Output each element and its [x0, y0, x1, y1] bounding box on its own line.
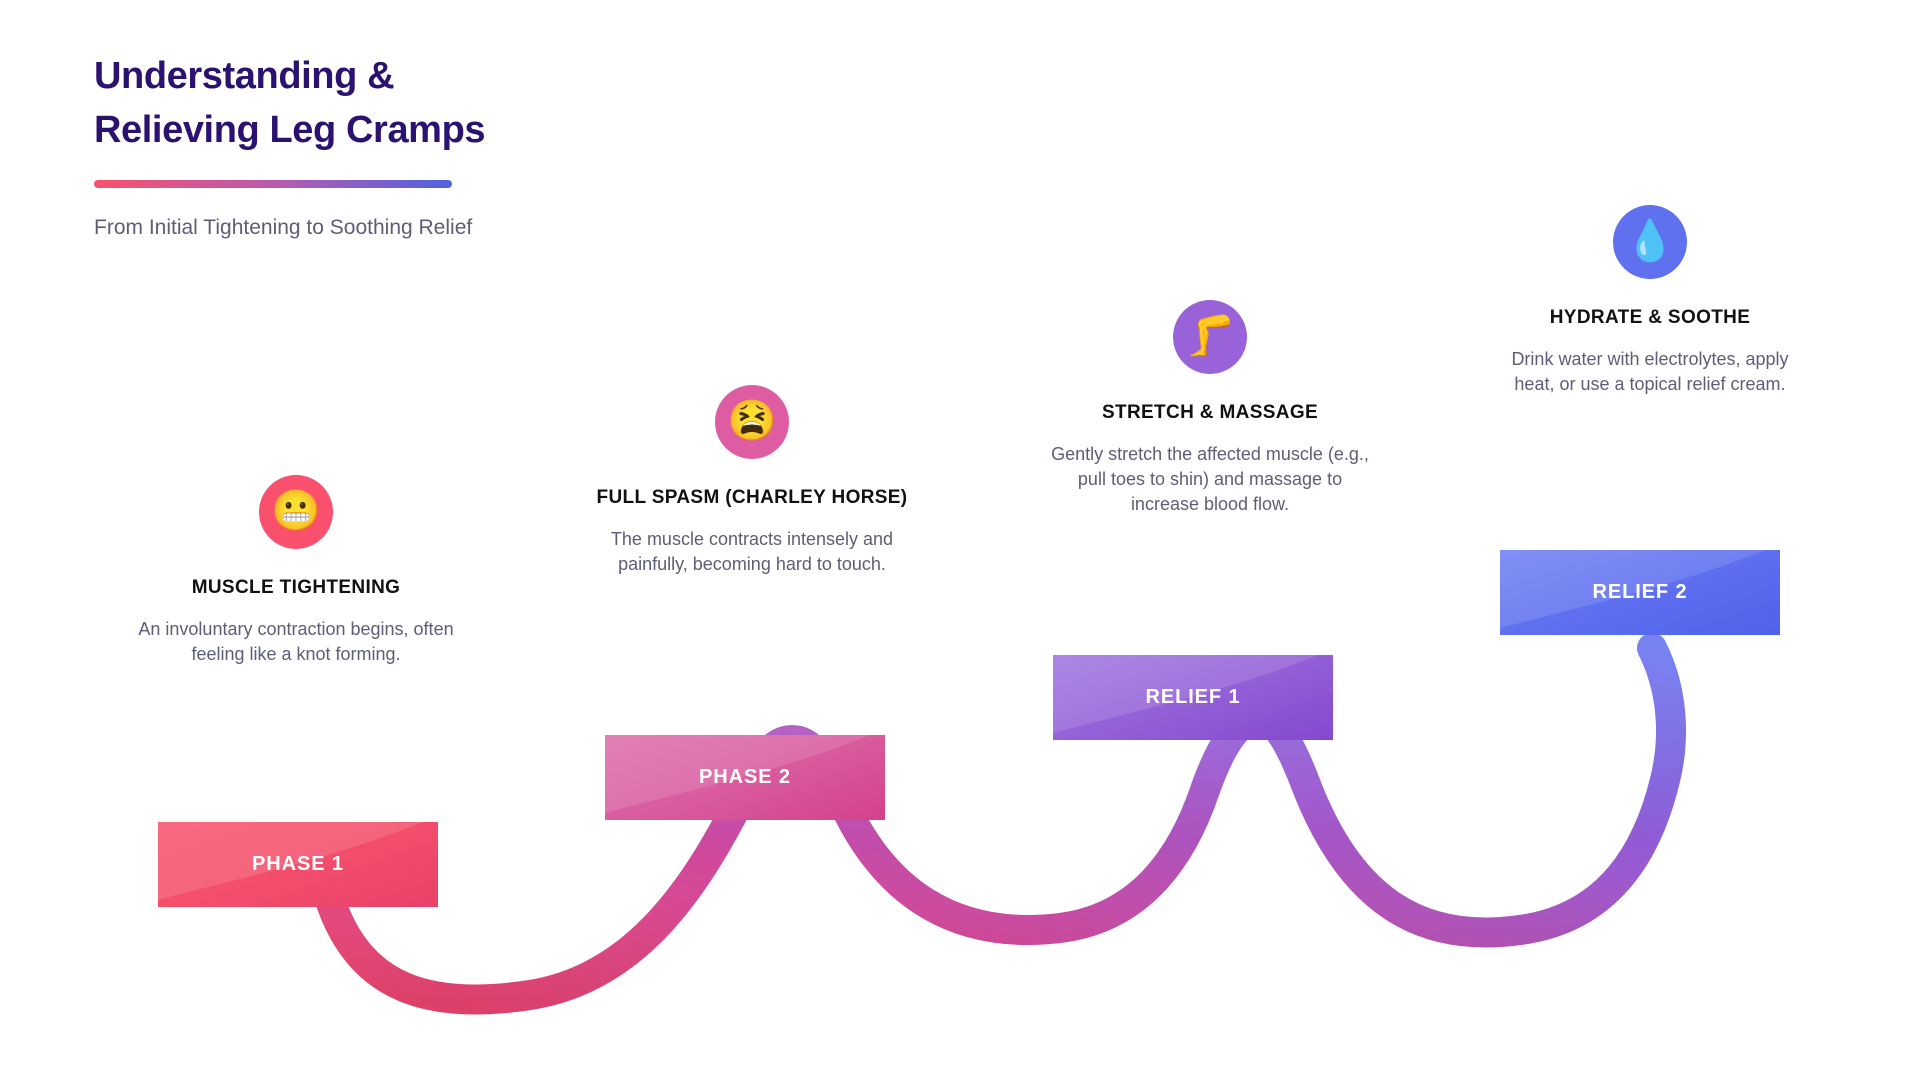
droplet-emoji: 💧: [1625, 221, 1675, 261]
step-2-title: FULL SPASM (CHARLEY HORSE): [592, 485, 912, 512]
step-node-2: 😫 FULL SPASM (CHARLEY HORSE) The muscle …: [592, 385, 912, 577]
banner-1-label: PHASE 1: [252, 853, 344, 876]
step-3-icon-bubble: 🦵: [1173, 300, 1247, 374]
step-node-3: 🦵 STRETCH & MASSAGE Gently stretch the a…: [1050, 300, 1370, 517]
header-block: Understanding & Relieving Leg Cramps Fro…: [94, 50, 854, 241]
step-2-icon-bubble: 😫: [715, 385, 789, 459]
banner-3-label: RELIEF 1: [1146, 686, 1241, 709]
step-3-title: STRETCH & MASSAGE: [1050, 400, 1370, 427]
page-subtitle: From Initial Tightening to Soothing Reli…: [94, 214, 854, 241]
step-node-4: 💧 HYDRATE & SOOTHE Drink water with elec…: [1490, 205, 1810, 397]
step-4-description: Drink water with electrolytes, apply hea…: [1490, 347, 1810, 397]
tired-face-emoji: 😫: [727, 401, 777, 441]
banner-relief-2[interactable]: RELIEF 2: [1500, 550, 1780, 635]
grimacing-face-emoji: 😬: [271, 491, 321, 531]
page-title-line-2: Relieving Leg Cramps: [94, 104, 854, 158]
page-title: Understanding & Relieving Leg Cramps: [94, 50, 854, 158]
banner-phase-1[interactable]: PHASE 1: [158, 822, 438, 907]
step-1-description: An involuntary contraction begins, often…: [136, 617, 456, 667]
leg-emoji: 🦵: [1185, 316, 1235, 356]
step-4-title: HYDRATE & SOOTHE: [1490, 305, 1810, 332]
step-3-description: Gently stretch the affected muscle (e.g.…: [1050, 442, 1370, 517]
page-title-line-1: Understanding &: [94, 50, 854, 104]
title-underline-rule: [94, 180, 452, 188]
banner-relief-1[interactable]: RELIEF 1: [1053, 655, 1333, 740]
step-1-title: MUSCLE TIGHTENING: [136, 575, 456, 602]
banner-phase-2[interactable]: PHASE 2: [605, 735, 885, 820]
step-4-icon-bubble: 💧: [1613, 205, 1687, 279]
step-1-icon-bubble: 😬: [259, 475, 333, 549]
step-node-1: 😬 MUSCLE TIGHTENING An involuntary contr…: [136, 475, 456, 667]
banner-2-label: PHASE 2: [699, 766, 791, 789]
step-2-description: The muscle contracts intensely and painf…: [592, 527, 912, 577]
banner-4-label: RELIEF 2: [1593, 581, 1688, 604]
infographic-canvas: Understanding & Relieving Leg Cramps Fro…: [0, 0, 1920, 1080]
